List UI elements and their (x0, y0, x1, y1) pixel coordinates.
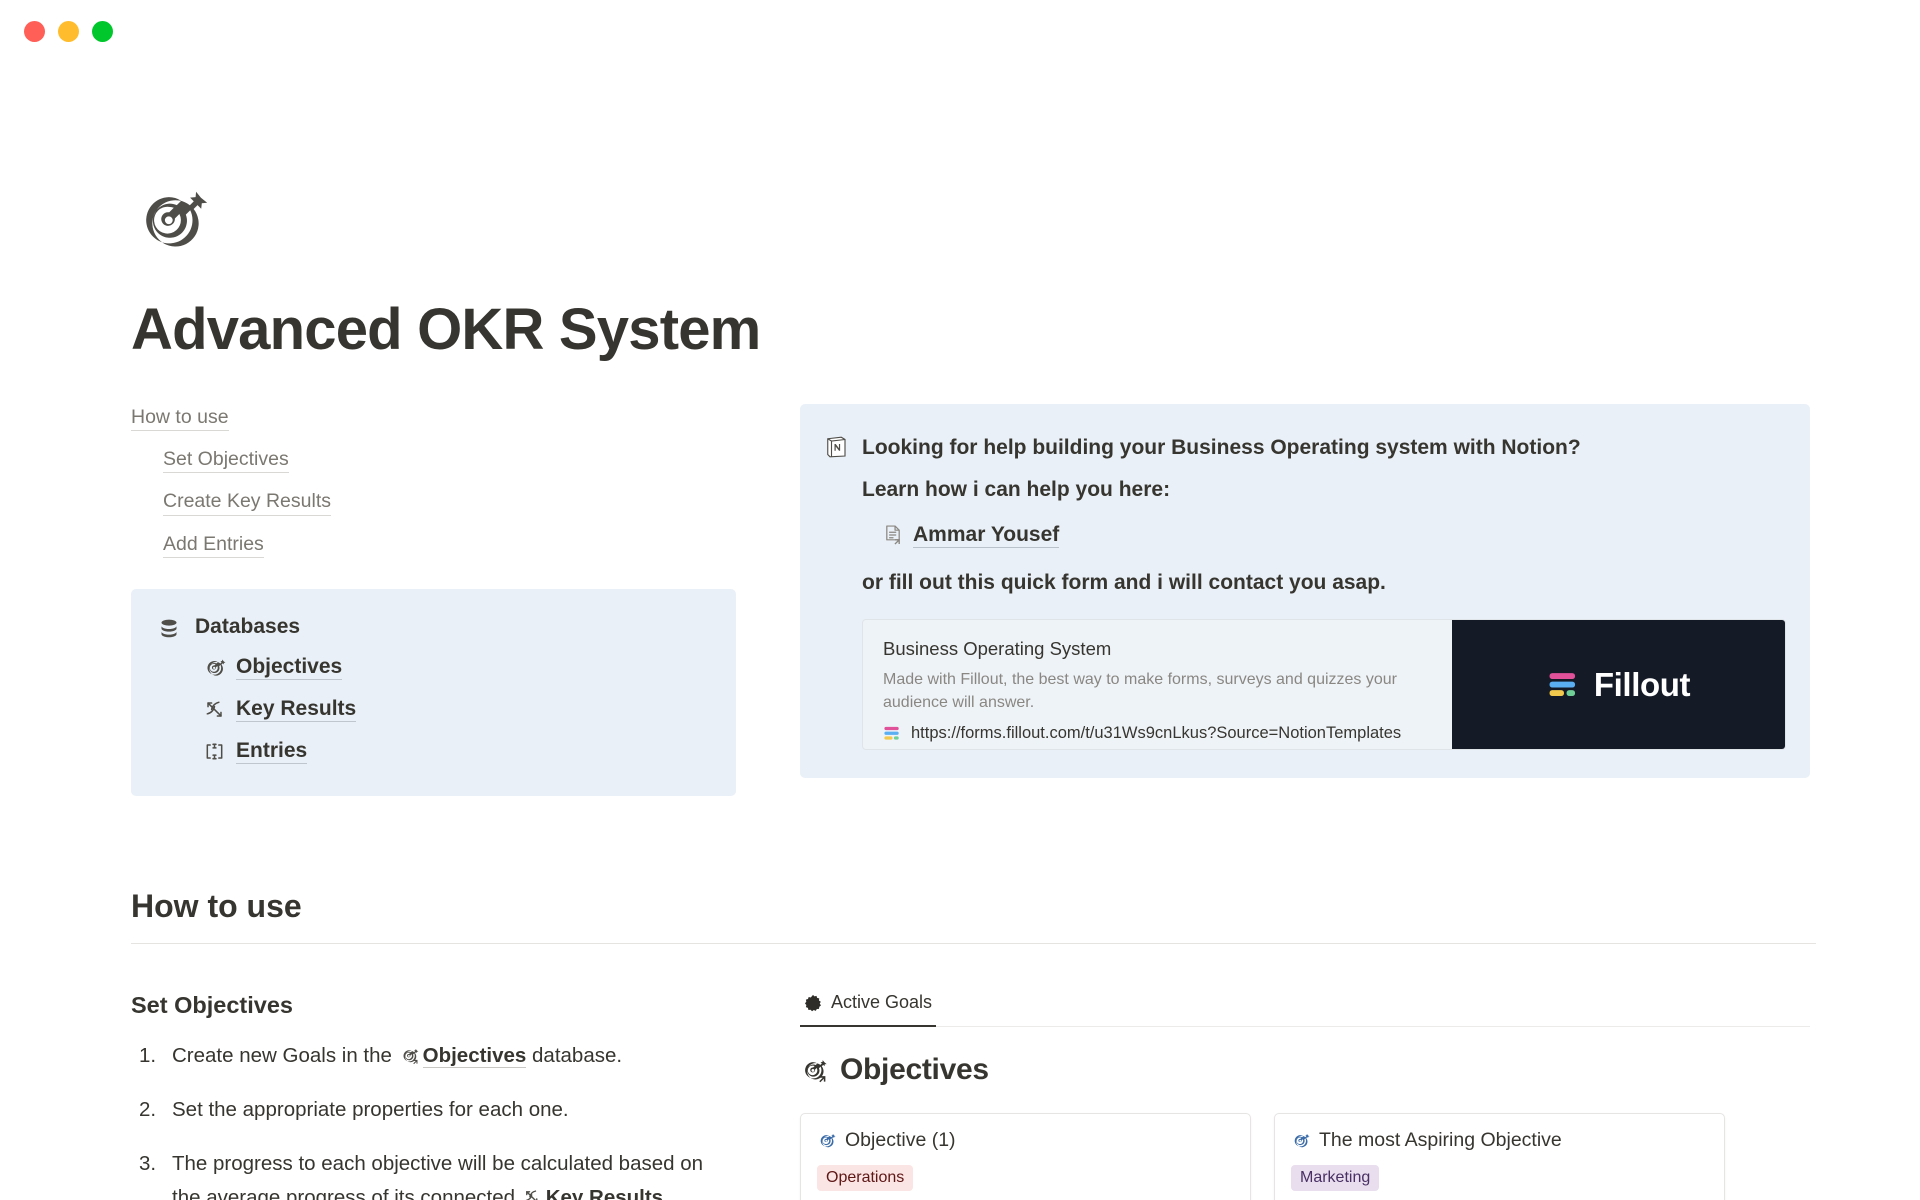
status-badge: Marketing (1291, 1165, 1379, 1191)
tab-label: Active Goals (831, 992, 932, 1013)
database-link-label: Key Results (236, 697, 356, 722)
bookmark-brand-panel: Fillout (1452, 620, 1785, 749)
databases-callout: Databases Objectives Key Results (131, 589, 736, 796)
card-title: The most Aspiring Objective (1319, 1129, 1562, 1152)
step-text-tail: . (663, 1186, 669, 1200)
card-title-row: Objective (1) (817, 1129, 1234, 1152)
set-objectives-steps: Create new Goals in the Objectives datab… (131, 1039, 736, 1200)
target-icon (1291, 1131, 1310, 1150)
top-columns: How to use Set Objectives Create Key Res… (131, 404, 1816, 796)
page-title: Advanced OKR System (131, 298, 1816, 362)
bow-and-arrow-icon (203, 698, 226, 721)
help-line-secondary: Learn how i can help you here: (862, 474, 1786, 507)
database-view-tabs: Active Goals (800, 992, 1810, 1027)
database-links: Objectives Key Results Entries (203, 655, 706, 764)
fillout-bookmark-card[interactable]: Business Operating System Made with Fill… (862, 619, 1786, 750)
help-callout-body: Looking for help building your Business … (862, 432, 1786, 751)
toc-item-set-objectives[interactable]: Set Objectives (163, 446, 289, 473)
toc-item-create-key-results[interactable]: Create Key Results (163, 488, 331, 515)
window-minimize-button[interactable] (58, 21, 79, 42)
card-title: Objective (1) (845, 1129, 956, 1152)
list-item: Set the appropriate properties for each … (131, 1093, 736, 1126)
bookmark-details: Business Operating System Made with Fill… (863, 620, 1452, 749)
page-content: Advanced OKR System How to use Set Objec… (131, 180, 1816, 1200)
left-column: How to use Set Objectives Create Key Res… (131, 404, 736, 796)
database-title-row: Objectives (800, 1053, 1810, 1087)
target-icon[interactable] (131, 180, 209, 258)
database-link-label: Objectives (236, 655, 342, 680)
help-line-primary: Looking for help building your Business … (862, 432, 1786, 465)
step-text: Create new Goals in the (172, 1044, 398, 1067)
database-link-label: Entries (236, 739, 307, 764)
databases-callout-title: Databases (195, 615, 300, 639)
section-heading: How to use (131, 888, 1816, 944)
fillout-wordmark: Fillout (1594, 666, 1690, 704)
help-line-form: or fill out this quick form and i will c… (862, 567, 1786, 600)
fillout-favicon-icon (883, 724, 902, 743)
bookmark-description: Made with Fillout, the best way to make … (883, 669, 1432, 714)
database-link-entries[interactable]: Entries (203, 739, 706, 764)
right-column: Looking for help building your Business … (800, 404, 1810, 779)
target-icon (800, 1056, 829, 1085)
set-objectives-heading: Set Objectives (131, 992, 736, 1019)
how-to-use-columns: Set Objectives Create new Goals in the O… (131, 992, 1816, 1200)
badge-icon (804, 994, 822, 1012)
page-body: Advanced OKR System How to use Set Objec… (0, 62, 1920, 1200)
database-link-key-results[interactable]: Key Results (203, 697, 706, 722)
help-callout: Looking for help building your Business … (800, 404, 1810, 779)
set-objectives-column: Set Objectives Create new Goals in the O… (131, 992, 736, 1200)
toc-item-how-to-use[interactable]: How to use (131, 404, 229, 431)
page-link-icon (882, 523, 904, 547)
app-window: Advanced OKR System How to use Set Objec… (0, 0, 1920, 1200)
list-item: Create new Goals in the Objectives datab… (131, 1039, 736, 1072)
bookmark-url: https://forms.fillout.com/t/u31Ws9cnLkus… (911, 724, 1401, 743)
objective-card[interactable]: The most Aspiring Objective Marketing K.… (1274, 1113, 1725, 1200)
table-of-contents: How to use Set Objectives Create Key Res… (131, 404, 736, 573)
database-icon (157, 617, 181, 641)
window-close-button[interactable] (24, 21, 45, 42)
help-person-link[interactable]: Ammar Yousef (882, 523, 1786, 548)
notion-icon (824, 434, 848, 460)
databases-callout-header: Databases (157, 615, 706, 641)
bow-and-arrow-icon (523, 1188, 543, 1200)
brackets-icon (203, 740, 226, 763)
fillout-logo-icon (1547, 668, 1581, 702)
objective-card[interactable]: Objective (1) Operations K.R (3) (800, 1113, 1251, 1200)
list-item: The progress to each objective will be c… (131, 1147, 736, 1200)
card-title-row: The most Aspiring Objective (1291, 1129, 1708, 1152)
status-badge: Operations (817, 1165, 913, 1191)
step-text: Set the appropriate properties for each … (172, 1098, 569, 1121)
toc-item-add-entries[interactable]: Add Entries (163, 531, 264, 558)
help-person-name: Ammar Yousef (913, 523, 1059, 548)
tab-active-goals[interactable]: Active Goals (800, 992, 936, 1027)
how-to-use-section: How to use Set Objectives Create new Goa… (131, 888, 1816, 1200)
objectives-database-view: Active Goals Objectives (800, 992, 1810, 1200)
step-text-tail: database. (526, 1044, 622, 1067)
bookmark-url-row: https://forms.fillout.com/t/u31Ws9cnLkus… (883, 724, 1432, 743)
database-link-objectives[interactable]: Objectives (203, 655, 706, 680)
window-maximize-button[interactable] (92, 21, 113, 42)
target-icon (203, 656, 226, 679)
bookmark-title: Business Operating System (883, 637, 1432, 661)
target-icon (400, 1046, 420, 1066)
window-titlebar (0, 0, 1920, 62)
objective-cards: Objective (1) Operations K.R (3) (800, 1113, 1810, 1200)
target-icon (817, 1131, 836, 1150)
objectives-inline-link[interactable]: Objectives (423, 1044, 527, 1068)
help-callout-header: Looking for help building your Business … (824, 432, 1786, 751)
database-title: Objectives (840, 1053, 989, 1087)
key-results-inline-link[interactable]: Key Results (546, 1186, 663, 1200)
